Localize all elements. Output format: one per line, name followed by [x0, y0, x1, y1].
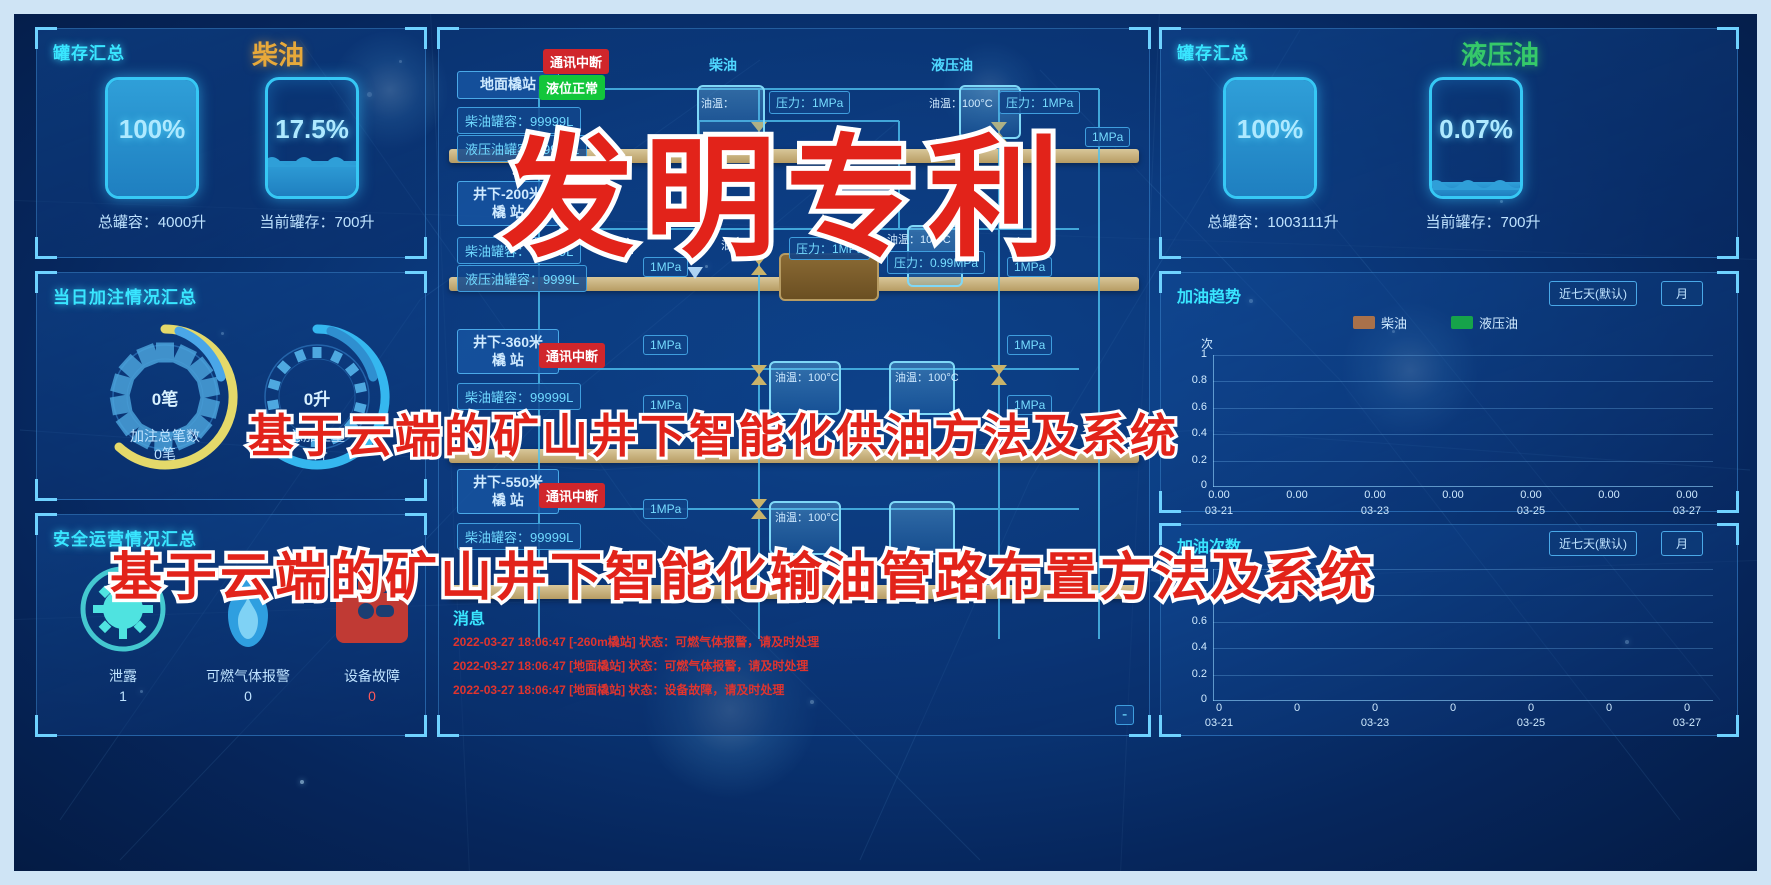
- corner-decoration: [1717, 27, 1739, 49]
- left-tank-panel: 罐存汇总 柴油 100% 总罐容：4000升 17.5% 当前罐存：700升: [36, 28, 426, 258]
- corner-decoration: [1159, 715, 1181, 737]
- point-label: 0: [1353, 702, 1397, 714]
- corner-decoration: [405, 237, 427, 259]
- gridline: [1213, 355, 1713, 356]
- panel-subtitle-hydraulic: 液压油: [1461, 35, 1539, 72]
- range-button-month[interactable]: 月: [1661, 531, 1703, 556]
- corner-decoration: [1717, 523, 1739, 545]
- x-tick: 03-25: [1509, 717, 1553, 729]
- x-tick: 03-23: [1353, 505, 1397, 517]
- mpa-tag: 1MPa: [1007, 335, 1052, 355]
- tank-percent: 17.5%: [268, 114, 356, 145]
- y-tick: 1: [1179, 348, 1207, 360]
- corner-decoration: [1717, 271, 1739, 293]
- panel-title: 罐存汇总: [53, 39, 125, 64]
- label-diesel-flow: 柴油: [709, 55, 737, 75]
- station-badge-comm-interrupt: 通讯中断: [539, 483, 605, 508]
- caption-line2: 0笔: [85, 445, 245, 463]
- x-tick: 03-21: [1197, 717, 1241, 729]
- x-tick: 03-27: [1665, 505, 1709, 517]
- legend-item-diesel[interactable]: 柴油: [1353, 313, 1407, 332]
- safety-label: 泄露: [63, 666, 183, 686]
- tank-percent: 0.07%: [1432, 114, 1520, 145]
- tank-percent: 100%: [1226, 114, 1314, 145]
- y-tick: 0.8: [1179, 374, 1207, 386]
- station-badge-comm-interrupt: 通讯中断: [539, 343, 605, 368]
- point-label: 0.00: [1665, 489, 1709, 501]
- point-label: 0: [1509, 702, 1553, 714]
- corner-decoration: [35, 237, 57, 259]
- readout-oil-temp-row4: 油温：100°C: [775, 509, 839, 525]
- legend-swatch-hydraulic: [1451, 316, 1473, 329]
- x-tick: 03-21: [1197, 505, 1241, 517]
- point-label: 0.00: [1275, 489, 1319, 501]
- corner-decoration: [1159, 491, 1181, 513]
- corner-decoration: [1717, 715, 1739, 737]
- point-label: 0.00: [1587, 489, 1631, 501]
- legend-label: 液压油: [1479, 313, 1518, 332]
- point-label: 0: [1665, 702, 1709, 714]
- corner-decoration: [35, 479, 57, 501]
- y-tick: 0.6: [1179, 401, 1207, 413]
- label-hydraulic-flow: 液压油: [931, 55, 973, 75]
- gridline: [1213, 622, 1713, 623]
- point-label: 0.00: [1197, 489, 1241, 501]
- watermark-line2: 基于云端的矿山井下智能化输油管路布置方法及系统: [110, 535, 1375, 610]
- message-row: 2022-03-27 18:06:47 [地面橇站] 状态：设备故障，请及时处理: [453, 681, 784, 698]
- gridline: [1213, 675, 1713, 676]
- point-label: 0: [1275, 702, 1319, 714]
- range-button-seven-days[interactable]: 近七天(默认): [1549, 531, 1637, 556]
- legend-label: 柴油: [1381, 313, 1407, 332]
- corner-decoration: [405, 715, 427, 737]
- corner-decoration: [405, 513, 427, 535]
- x-axis-line: [1213, 700, 1713, 701]
- gridline: [1213, 381, 1713, 382]
- safety-label: 可燃气体报警: [183, 666, 313, 686]
- panel-title: 罐存汇总: [1177, 39, 1249, 64]
- corner-decoration: [1717, 491, 1739, 513]
- corner-decoration: [405, 271, 427, 293]
- wave-icon: [1429, 174, 1523, 190]
- panel-title: 当日加注情况汇总: [53, 283, 197, 308]
- diesel-total-caption: 总罐容：4000升: [61, 211, 243, 232]
- hydraulic-current-caption: 当前罐存：700升: [1383, 211, 1583, 232]
- readout-oil-temp: 油温：100°C: [895, 369, 959, 385]
- legend-swatch-diesel: [1353, 316, 1375, 329]
- diesel-current-caption: 当前罐存：700升: [222, 211, 412, 232]
- panel-subtitle-diesel: 柴油: [252, 35, 304, 72]
- legend-item-hydraulic[interactable]: 液压油: [1451, 313, 1518, 332]
- safety-value: 0: [183, 688, 313, 704]
- hydraulic-total-caption: 总罐容：1003111升: [1153, 211, 1393, 232]
- station-badge-comm-interrupt: 通讯中断: [543, 49, 609, 74]
- tank-fill: [268, 161, 356, 196]
- point-label: 0: [1197, 702, 1241, 714]
- diesel-current-tank: 17.5%: [265, 77, 359, 199]
- point-label: 0: [1431, 702, 1475, 714]
- right-trend-chart-panel: 加油趋势 近七天(默认) 月 柴油 液压油 次 1 0.8 0.6 0.4 0.…: [1160, 272, 1738, 512]
- gridline: [1213, 434, 1713, 435]
- point-label: 0: [1587, 702, 1631, 714]
- x-tick: 03-27: [1665, 717, 1709, 729]
- message-row: 2022-03-27 18:06:47 [地面橇站] 状态：可燃气体报警，请及时…: [453, 657, 808, 674]
- corner-decoration: [405, 27, 427, 49]
- y-tick: 0.4: [1179, 427, 1207, 439]
- right-tank-panel: 罐存汇总 液压油 100% 总罐容：1003111升 0.07% 当前罐存：70…: [1160, 28, 1738, 258]
- corner-decoration: [35, 715, 57, 737]
- range-button-month[interactable]: 月: [1661, 281, 1703, 306]
- point-label: 0.00: [1509, 489, 1553, 501]
- y-tick: 0.2: [1179, 454, 1207, 466]
- caption-line1: 加注总笔数: [85, 427, 245, 445]
- gauge-refuel-count-caption: 加注总笔数 0笔: [85, 427, 245, 463]
- mpa-tag: 1MPa: [643, 499, 688, 519]
- corner-decoration: [1159, 237, 1181, 259]
- gridline: [1213, 648, 1713, 649]
- x-tick: 03-23: [1353, 717, 1397, 729]
- safety-value: 0: [317, 688, 427, 704]
- message-row: 2022-03-27 18:06:47 [-260m橇站] 状态：可燃气体报警，…: [453, 633, 819, 650]
- corner-decoration: [1717, 237, 1739, 259]
- tank-percent: 100%: [108, 114, 196, 145]
- hydraulic-total-tank: 100%: [1223, 77, 1317, 199]
- hydraulic-current-tank: 0.07%: [1429, 77, 1523, 199]
- mpa-tag: 1MPa: [643, 335, 688, 355]
- tank-fill: [1432, 182, 1520, 196]
- dashboard-screen: 罐存汇总 柴油 100% 总罐容：4000升 17.5% 当前罐存：700升 当…: [0, 0, 1771, 885]
- watermark-line1: 基于云端的矿山井下智能化供油方法及系统: [248, 400, 1179, 466]
- chart-title: 加油趋势: [1177, 283, 1241, 307]
- x-tick: 03-25: [1509, 505, 1553, 517]
- range-button-seven-days[interactable]: 近七天(默认): [1549, 281, 1637, 306]
- y-tick: 0.6: [1179, 615, 1207, 627]
- y-tick: 0.2: [1179, 668, 1207, 680]
- safety-value: 1: [63, 688, 183, 704]
- y-axis-line: [1213, 355, 1214, 487]
- diesel-total-tank: 100%: [105, 77, 199, 199]
- gridline: [1213, 461, 1713, 462]
- corner-decoration: [405, 479, 427, 501]
- point-label: 0.00: [1353, 489, 1397, 501]
- watermark-patent: 发明专利: [502, 92, 1070, 283]
- wave-icon: [265, 151, 359, 167]
- point-label: 0.00: [1431, 489, 1475, 501]
- readout-oil-temp: 油温：100°C: [775, 369, 839, 385]
- x-axis-line: [1213, 486, 1713, 487]
- gridline: [1213, 408, 1713, 409]
- y-tick: 0.4: [1179, 641, 1207, 653]
- zoom-out-button[interactable]: -: [1115, 705, 1134, 725]
- safety-label: 设备故障: [317, 666, 427, 686]
- trend-chart-plot: 1 0.8 0.6 0.4 0.2 0 0.00 0.00 0.00 0.00 …: [1213, 355, 1713, 487]
- mpa-tag: 1MPa: [1085, 127, 1130, 147]
